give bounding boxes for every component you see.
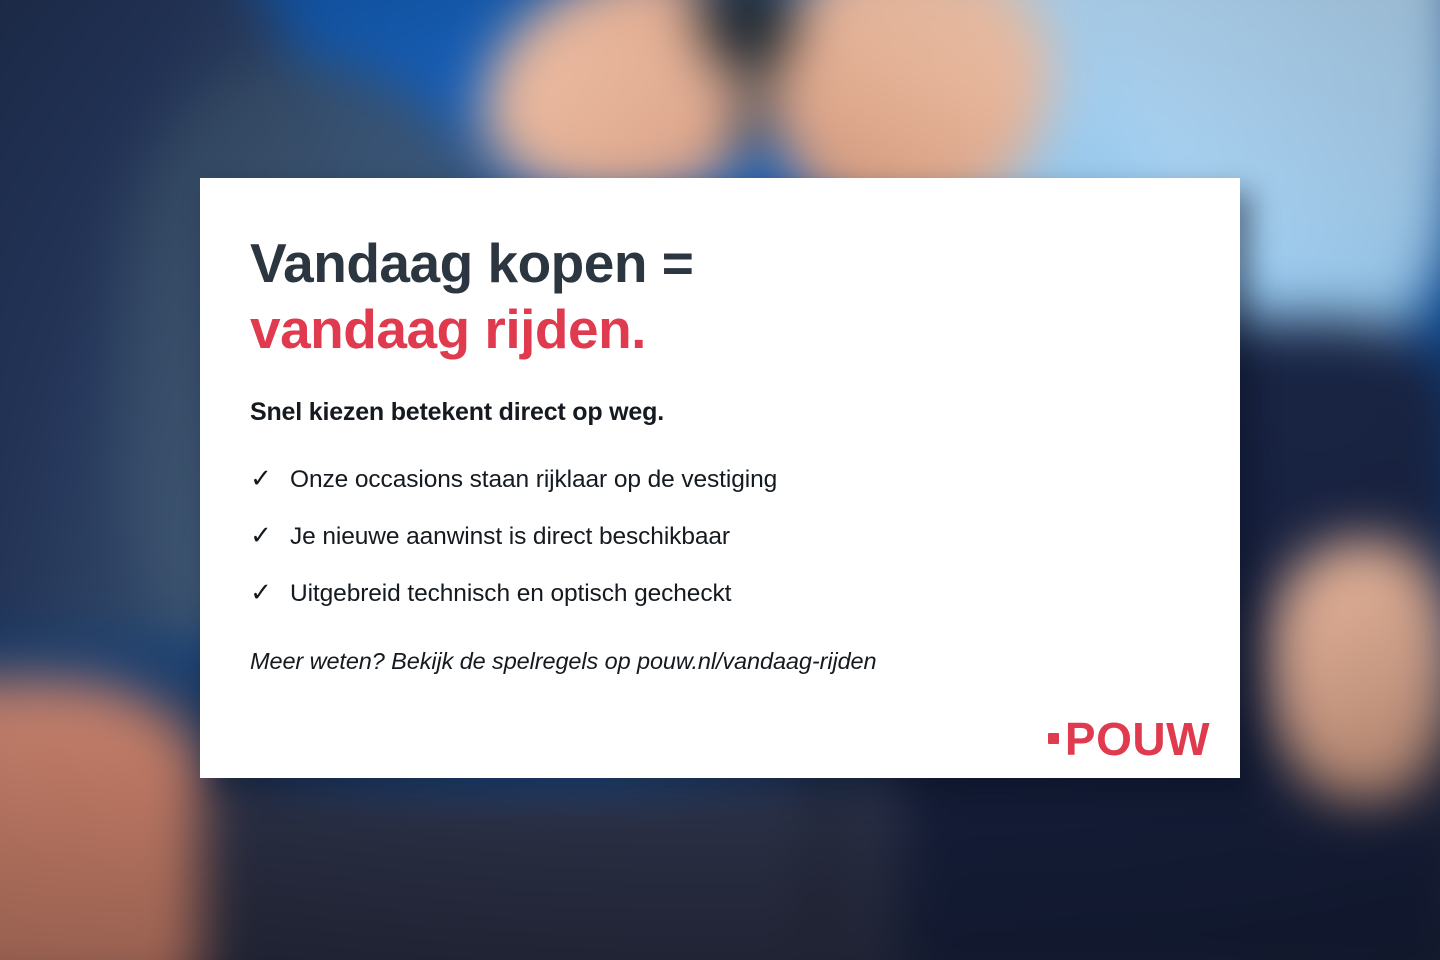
pouw-logo: POUW — [1048, 716, 1210, 762]
list-item: ✓ Je nieuwe aanwinst is direct beschikba… — [250, 522, 1184, 551]
check-icon: ✓ — [250, 579, 272, 605]
headline-line-1: Vandaag kopen = — [250, 230, 1184, 296]
check-icon: ✓ — [250, 522, 272, 548]
list-item-label: Je nieuwe aanwinst is direct beschikbaar — [290, 523, 730, 551]
list-item-label: Uitgebreid technisch en optisch gecheckt — [290, 580, 731, 608]
list-item-label: Onze occasions staan rijklaar op de vest… — [290, 466, 777, 494]
benefit-list: ✓ Onze occasions staan rijklaar op de ve… — [250, 465, 1184, 608]
headline-line-2: vandaag rijden. — [250, 296, 1184, 362]
check-icon: ✓ — [250, 465, 272, 491]
logo-dot-icon — [1048, 733, 1059, 744]
logo-wordmark: POUW — [1065, 716, 1210, 762]
promo-card: Vandaag kopen = vandaag rijden. Snel kie… — [200, 178, 1240, 778]
promo-banner: Vandaag kopen = vandaag rijden. Snel kie… — [0, 0, 1440, 960]
list-item: ✓ Uitgebreid technisch en optisch gechec… — [250, 579, 1184, 608]
list-item: ✓ Onze occasions staan rijklaar op de ve… — [250, 465, 1184, 494]
headline: Vandaag kopen = vandaag rijden. — [250, 230, 1184, 362]
footnote-text: Meer weten? Bekijk de spelregels op pouw… — [250, 648, 1184, 675]
subtitle: Snel kiezen betekent direct op weg. — [250, 398, 1184, 427]
